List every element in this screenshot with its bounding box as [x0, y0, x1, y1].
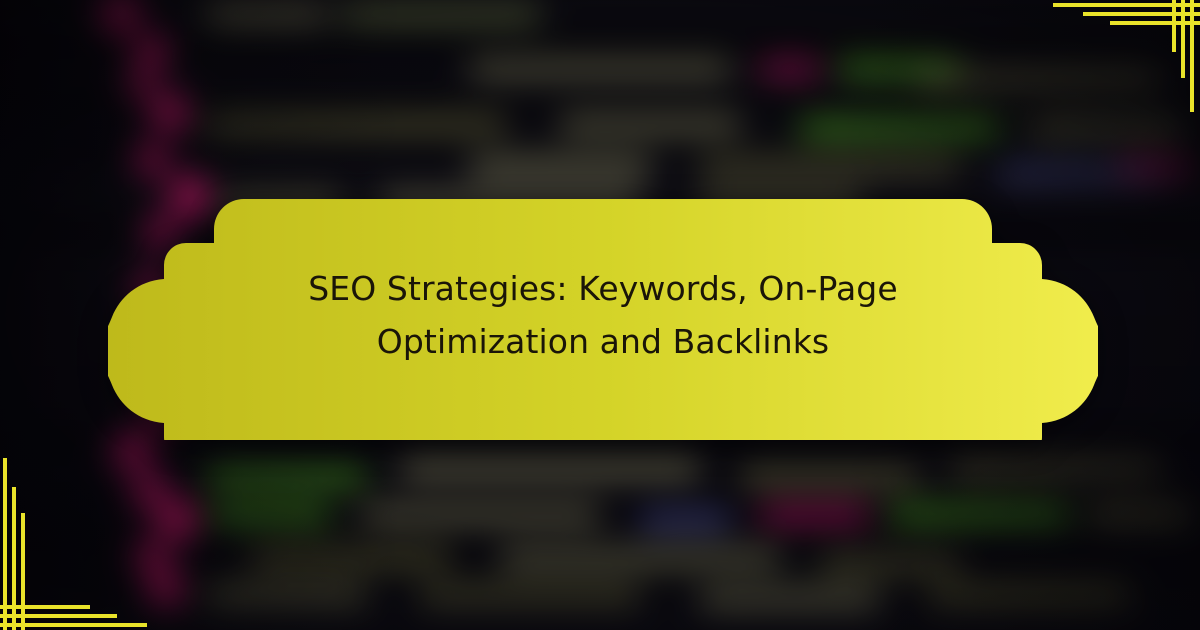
backdrop-code-line [420, 588, 640, 601]
backdrop-code-line [1120, 160, 1190, 173]
backdrop-code-line [920, 72, 1160, 85]
backdrop-code-line [470, 62, 730, 75]
title-badge: SEO Strategies: Keywords, On-Page Optimi… [108, 190, 1098, 440]
badge-title: SEO Strategies: Keywords, On-Page Optimi… [108, 190, 1098, 440]
backdrop-code-line [820, 558, 960, 571]
badge-title-line-2: Optimization and Backlinks [377, 315, 829, 368]
backdrop-code-line [470, 160, 650, 173]
backdrop-code-line [640, 514, 730, 527]
backdrop-code-line [700, 592, 880, 605]
backdrop-code-line [950, 462, 1160, 475]
backdrop-code-line [206, 118, 506, 131]
backdrop-code-line [210, 508, 330, 521]
backdrop-code-line [1030, 122, 1180, 135]
backdrop-code-line [340, 8, 540, 21]
backdrop-gutter-marker [133, 143, 167, 177]
backdrop-code-line [930, 588, 1130, 601]
backdrop-code-line [560, 118, 740, 131]
share-card: SEO Strategies: Keywords, On-Page Optimi… [0, 0, 1200, 630]
backdrop-code-line [1090, 508, 1190, 521]
backdrop-code-line [360, 508, 600, 521]
backdrop-gutter-marker [149, 93, 187, 131]
backdrop-code-line [250, 552, 450, 565]
backdrop-code-line [740, 470, 920, 483]
backdrop-gutter-marker [133, 539, 167, 573]
backdrop-code-line [500, 552, 780, 565]
backdrop-band [0, 140, 1200, 158]
backdrop-gutter-marker [130, 474, 166, 510]
backdrop-gutter-marker [133, 35, 167, 69]
backdrop-code-line [800, 122, 1000, 135]
backdrop-code-line [206, 588, 366, 601]
backdrop-band [0, 36, 1200, 58]
badge-title-line-1: SEO Strategies: Keywords, On-Page [308, 262, 898, 315]
backdrop-code-line [760, 62, 820, 75]
backdrop-code-line [700, 160, 960, 173]
backdrop-code-line [206, 470, 366, 483]
backdrop-code-line [206, 8, 326, 21]
backdrop-code-line [400, 462, 700, 475]
backdrop-gutter-marker [156, 500, 196, 540]
backdrop-gutter-marker [146, 570, 182, 606]
backdrop-gutter-marker [126, 70, 154, 98]
backdrop-code-line [890, 508, 1070, 521]
backdrop-code-line [760, 508, 870, 521]
